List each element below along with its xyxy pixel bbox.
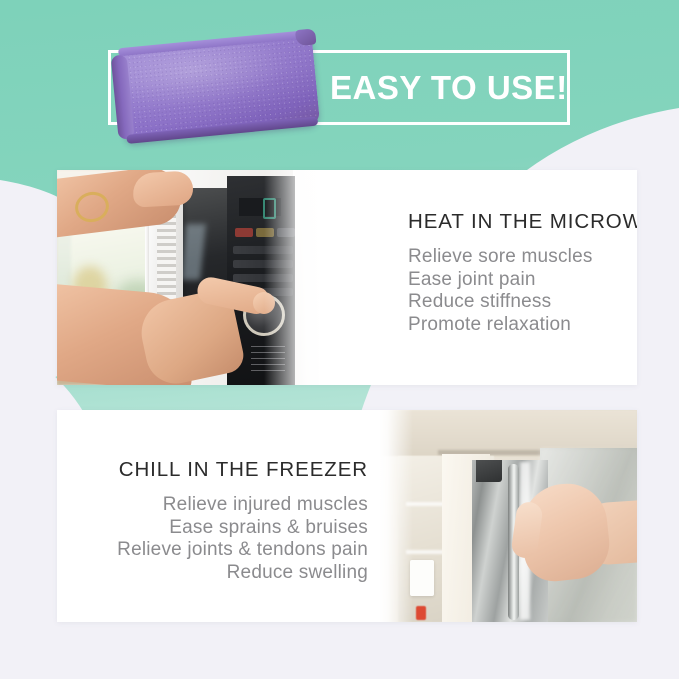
card-freezer-text: CHILL IN THE FREEZER Relieve injured mus… [57, 410, 409, 622]
benefit-item: Relieve sore muscles [408, 246, 637, 269]
card-microwave: HEAT IN THE MICROWAVE Relieve sore muscl… [57, 170, 637, 385]
card-freezer: CHILL IN THE FREEZER Relieve injured mus… [57, 410, 637, 622]
card-microwave-heading: HEAT IN THE MICROWAVE [408, 210, 637, 234]
hands-opening-microwave-photo [57, 170, 321, 385]
card-freezer-benefit-list: Relieve injured muscles Ease sprains & b… [57, 494, 368, 584]
freezer-scene [380, 410, 637, 622]
photo-fade-left [380, 410, 413, 622]
card-microwave-benefit-list: Relieve sore muscles Ease joint pain Red… [408, 246, 637, 336]
benefit-item: Reduce swelling [57, 562, 368, 585]
card-freezer-heading: CHILL IN THE FREEZER [57, 458, 368, 482]
benefit-item: Ease sprains & bruises [57, 517, 368, 540]
hand-opening-freezer-door-photo [380, 410, 637, 622]
fridge-item-white-box [410, 560, 434, 596]
benefit-item: Ease joint pain [408, 269, 637, 292]
product-infographic: EASY TO USE! [0, 0, 679, 679]
fridge-item-red [416, 606, 426, 620]
microwave-button-red [235, 228, 253, 237]
card-microwave-text: HEAT IN THE MICROWAVE Relieve sore muscl… [357, 170, 637, 385]
benefit-item: Reduce stiffness [408, 291, 637, 314]
benefit-item: Relieve joints & tendons pain [57, 539, 368, 562]
photo-fade-right [264, 170, 321, 385]
upper-hand-fingers [132, 170, 194, 207]
page-title: EASY TO USE! [330, 63, 560, 113]
product-pouch-image [108, 26, 327, 146]
benefit-item: Relieve injured muscles [57, 494, 368, 517]
benefit-item: Promote relaxation [408, 314, 637, 337]
fridge-door-top-corner [476, 460, 502, 482]
